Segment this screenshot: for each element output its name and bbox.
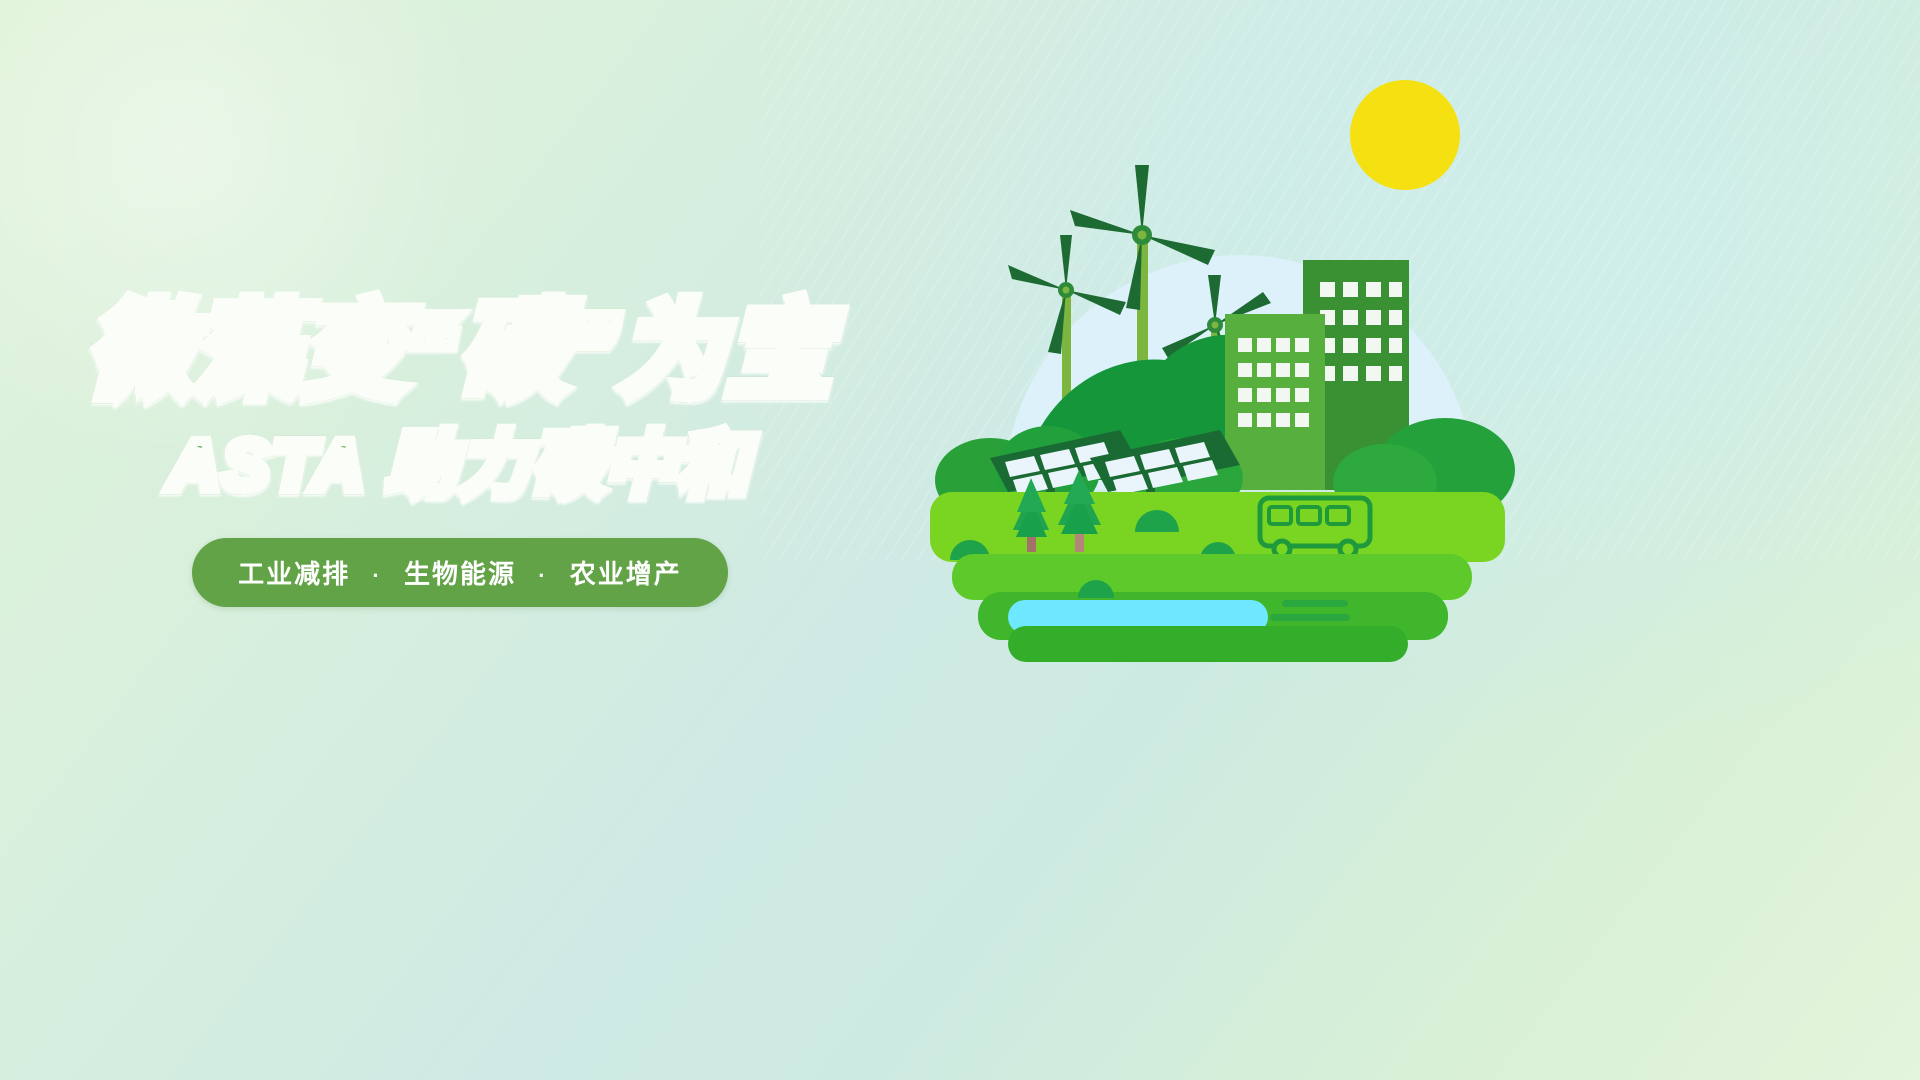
hero-banner: 微藻变“碳”为宝 ASTA 助力碳中和 工业减排 · 生物能源 · 农业增产 bbox=[0, 0, 1920, 1080]
eco-illustration bbox=[930, 60, 1550, 680]
tagline-item-1: 工业减排 bbox=[238, 559, 350, 589]
bus-icon bbox=[1260, 498, 1370, 557]
building-short bbox=[1225, 314, 1325, 490]
page-title: 微藻变“碳”为宝 bbox=[0, 300, 920, 404]
tagline-separator-2: · bbox=[525, 563, 560, 588]
ground-base bbox=[1008, 626, 1408, 662]
tagline-pill: 工业减排 · 生物能源 · 农业增产 bbox=[192, 538, 728, 607]
tagline-row: 工业减排 · 生物能源 · 农业增产 bbox=[0, 538, 920, 607]
tagline-item-2: 生物能源 bbox=[404, 559, 516, 589]
tagline-separator-1: · bbox=[359, 563, 394, 588]
sun-icon bbox=[1350, 80, 1460, 190]
hero-copy: 微藻变“碳”为宝 ASTA 助力碳中和 工业减排 · 生物能源 · 农业增产 bbox=[0, 300, 920, 607]
tagline-item-3: 农业增产 bbox=[570, 559, 682, 589]
page-subtitle: ASTA 助力碳中和 bbox=[0, 430, 920, 500]
